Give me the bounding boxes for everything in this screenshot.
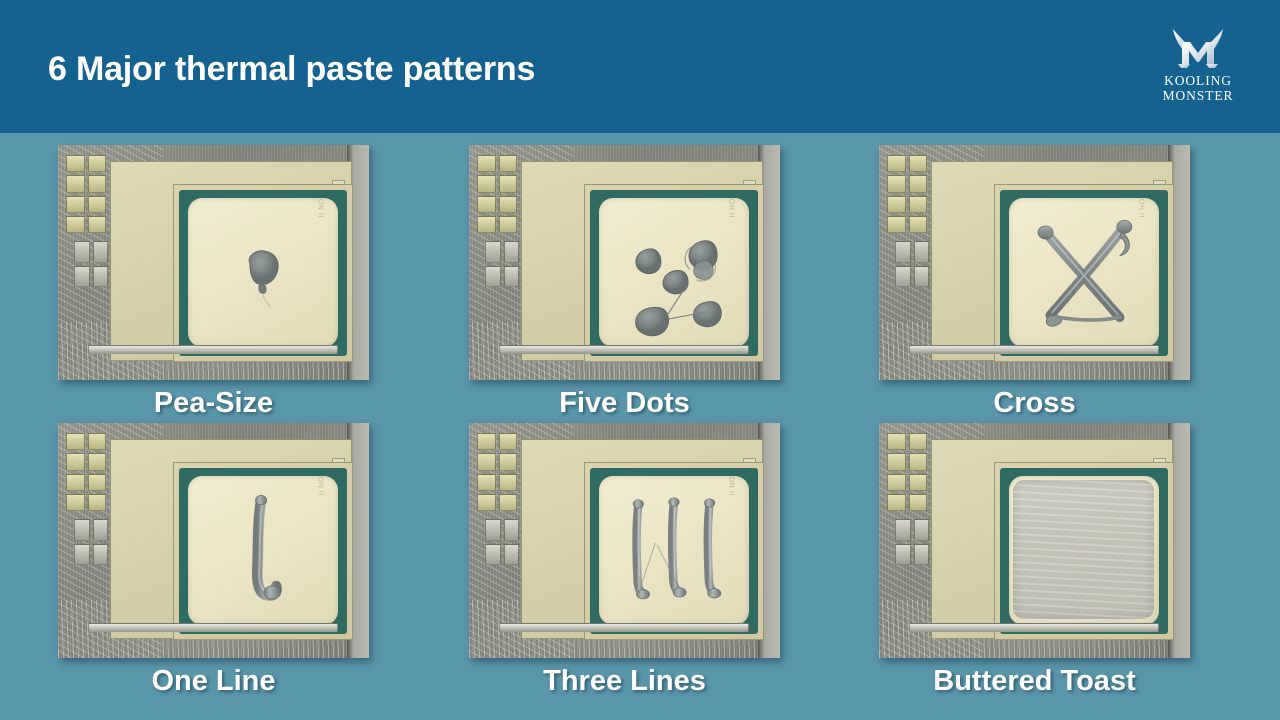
socket-retention-bar (909, 623, 1159, 632)
socket-retention-bar (499, 345, 749, 354)
cpu-substrate: AMD ATHLON II (179, 190, 347, 356)
cpu-package: AMD ATHLON II (173, 184, 353, 362)
smd-component-array (895, 241, 929, 287)
heat-spreader (1009, 476, 1159, 625)
smd-component-array (74, 519, 108, 565)
thermal-paste-pea-size (188, 198, 338, 347)
thermal-paste-one-line (188, 476, 338, 625)
thermal-paste-five-dots (599, 198, 749, 347)
cpu-substrate: AMD ATHLON II (590, 190, 758, 356)
cpu-package (994, 462, 1174, 640)
socket-retention-bar (909, 345, 1159, 354)
heat-spreader: AMD ATHLON II (188, 198, 338, 347)
capacitor-array (477, 155, 517, 233)
heat-spreader: AMD ATHLON II (599, 198, 749, 347)
cpu-photo-pea-size: SOCKET AM4 AMD ATHLON II (58, 145, 369, 380)
socket-retention-bar (499, 623, 749, 632)
cpu-photo-three-lines: SOCKET AM4 AMD ATHLON II (469, 423, 780, 658)
cpu-substrate: AMD ATHLON II (1000, 190, 1168, 356)
cpu-package: AMD ATHLON II (994, 184, 1174, 362)
cpu-socket-frame: SOCKET AM4 AMD ATHLON II (521, 439, 763, 639)
cpu-photo-buttered-toast: SOCKET AM4 (879, 423, 1190, 658)
smd-component-array (485, 519, 519, 565)
brand-name: KOOLING MONSTER (1163, 73, 1234, 103)
cpu-substrate: AMD ATHLON II (179, 468, 347, 634)
page-title: 6 Major thermal paste patterns (48, 50, 535, 89)
cpu-photo-one-line: SOCKET AM4 AMD ATHLON II (58, 423, 369, 658)
cpu-socket-frame: SOCKET AM4 AMD ATHLON II (931, 161, 1173, 361)
gallery-item-caption: Pea-Size (7, 387, 420, 420)
heat-spreader: AMD ATHLON II (599, 476, 749, 625)
cpu-package: AMD ATHLON II (584, 462, 764, 640)
socket-retention-bar (88, 345, 338, 354)
page-header: 6 Major thermal paste patterns KOOLING M… (0, 0, 1280, 133)
gallery-item-caption: Three Lines (418, 665, 831, 698)
capacitor-array (887, 433, 927, 511)
smd-component-array (485, 241, 519, 287)
smd-component-array (74, 241, 108, 287)
gallery-item-buttered-toast[interactable]: SOCKET AM4 Buttered Toast (828, 423, 1241, 698)
cpu-substrate: AMD ATHLON II (590, 468, 758, 634)
cpu-socket-frame: SOCKET AM4 AMD ATHLON II (110, 161, 352, 361)
cpu-photo-five-dots: SOCKET AM4 AMD ATHLON II (469, 145, 780, 380)
gallery-item-cross[interactable]: SOCKET AM4 AMD ATHLON II (828, 145, 1241, 420)
cpu-package: AMD ATHLON II (584, 184, 764, 362)
heat-spreader: AMD ATHLON II (188, 476, 338, 625)
capacitor-array (477, 433, 517, 511)
kooling-monster-horned-m-logo-icon (1168, 26, 1228, 70)
heat-spreader: AMD ATHLON II (1009, 198, 1159, 347)
capacitor-array (66, 155, 106, 233)
gallery-item-three-lines[interactable]: SOCKET AM4 AMD ATHLON II (418, 423, 831, 698)
cpu-photo-cross: SOCKET AM4 AMD ATHLON II (879, 145, 1190, 380)
gallery-item-caption: Cross (828, 387, 1241, 420)
gallery-item-caption: Five Dots (418, 387, 831, 420)
cpu-substrate (1000, 468, 1168, 634)
capacitor-array (66, 433, 106, 511)
gallery-item-caption: One Line (7, 665, 420, 698)
thermal-paste-three-lines (599, 476, 749, 625)
brand-name-line1: KOOLING (1164, 73, 1232, 88)
brand-logo: KOOLING MONSTER (1144, 26, 1252, 112)
cpu-socket-frame: SOCKET AM4 (931, 439, 1173, 639)
pattern-gallery: SOCKET AM4 AMD ATHLON II (0, 133, 1280, 720)
thermal-paste-cross (1009, 198, 1159, 347)
cpu-socket-frame: SOCKET AM4 AMD ATHLON II (110, 439, 352, 639)
socket-retention-bar (88, 623, 338, 632)
thermal-paste-buttered-toast (1013, 480, 1154, 619)
capacitor-array (887, 155, 927, 233)
cpu-socket-frame: SOCKET AM4 AMD ATHLON II (521, 161, 763, 361)
brand-name-line2: MONSTER (1163, 88, 1234, 103)
gallery-item-five-dots[interactable]: SOCKET AM4 AMD ATHLON II (418, 145, 831, 420)
gallery-item-caption: Buttered Toast (828, 665, 1241, 698)
gallery-item-pea-size[interactable]: SOCKET AM4 AMD ATHLON II (7, 145, 420, 420)
cpu-package: AMD ATHLON II (173, 462, 353, 640)
smd-component-array (895, 519, 929, 565)
gallery-item-one-line[interactable]: SOCKET AM4 AMD ATHLON II (7, 423, 420, 698)
